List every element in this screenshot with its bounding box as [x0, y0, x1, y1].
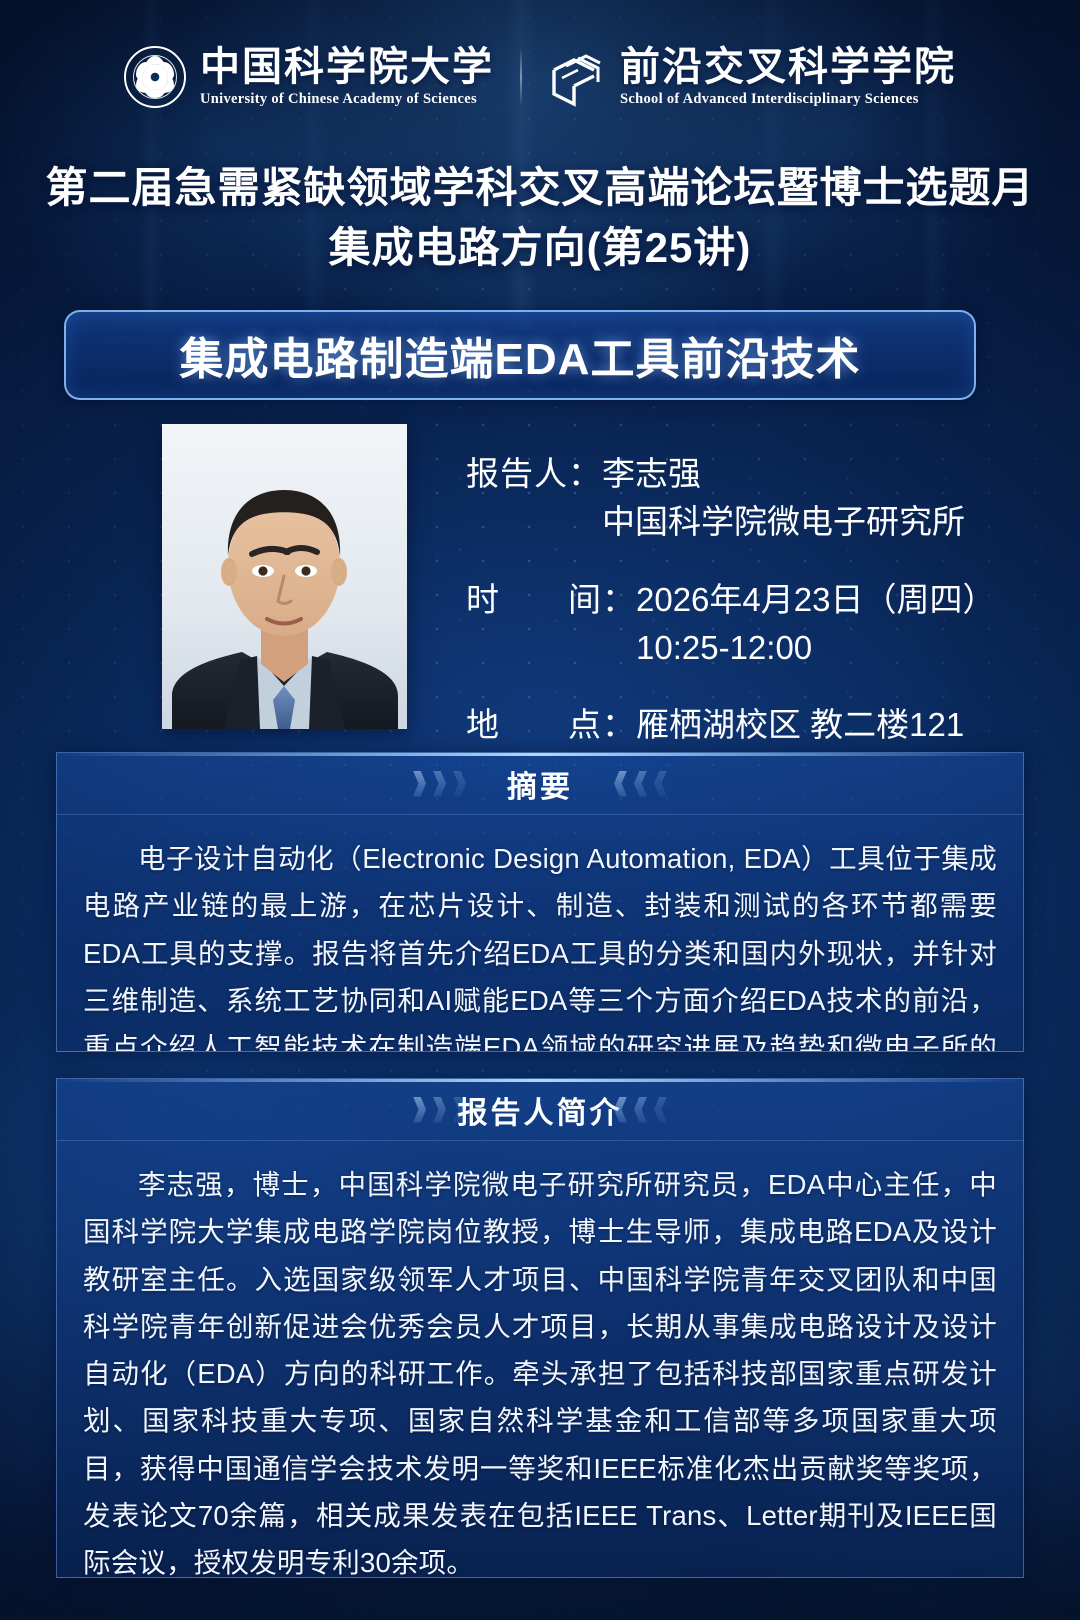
forum-title-line1: 第二届急需紧缺领域学科交叉高端论坛暨博士选题月 — [45, 164, 1034, 211]
chevron-left-icon — [614, 771, 627, 797]
presenter-label: 报告人： — [466, 450, 602, 498]
event-venue: 雁栖湖校区 教二楼121 — [636, 701, 964, 749]
abstract-body: 电子设计自动化（Electronic Design Automation, ED… — [57, 815, 1023, 1052]
place-label: 地 点： — [466, 701, 636, 749]
presenter-values: 李志强 中国科学院微电子研究所 — [602, 450, 965, 546]
bio-panel: 报告人简介 李志强，博士，中国科学院微电子研究所研究员，EDA中心主任，中国科学… — [56, 1078, 1024, 1578]
speaker-section: 报告人： 李志强 中国科学院微电子研究所 时 间： 2026年4月23日（周四）… — [0, 424, 1080, 734]
abstract-chevrons-right — [614, 771, 667, 797]
chevron-right-icon — [433, 771, 446, 797]
topic-title: 集成电路制造端EDA工具前沿技术 — [180, 323, 861, 387]
sais-name-en: School of Advanced Interdisciplinary Sci… — [620, 91, 956, 108]
abstract-heading: 摘要 — [507, 762, 573, 806]
abstract-text: 电子设计自动化（Electronic Design Automation, ED… — [83, 835, 997, 1052]
speaker-name: 李志强 — [602, 455, 701, 492]
poster-root: 中国科学院大学 University of Chinese Academy of… — [0, 0, 1080, 1620]
ucas-seal-icon — [124, 46, 186, 108]
bio-text: 李志强，博士，中国科学院微电子研究所研究员，EDA中心主任，中国科学院大学集成电… — [83, 1161, 997, 1578]
time-values: 2026年4月23日（周四） 10:25-12:00 — [636, 576, 995, 672]
sais-cube-icon — [548, 46, 606, 108]
forum-title: 第二届急需紧缺领域学科交叉高端论坛暨博士选题月 集成电路方向(第25讲) — [0, 158, 1080, 277]
topic-box: 集成电路制造端EDA工具前沿技术 — [64, 310, 976, 400]
chevron-left-icon — [634, 771, 647, 797]
chevron-right-icon — [453, 771, 466, 797]
event-time-range: 10:25-12:00 — [636, 624, 995, 672]
bio-body: 李志强，博士，中国科学院微电子研究所研究员，EDA中心主任，中国科学院大学集成电… — [57, 1141, 1023, 1578]
logo-divider — [520, 47, 522, 107]
abstract-header: 摘要 — [57, 753, 1023, 815]
chevron-right-icon — [433, 1097, 446, 1123]
chevron-right-icon — [413, 1097, 426, 1123]
ucas-name-en: University of Chinese Academy of Science… — [200, 91, 494, 108]
meta-spacer-2 — [466, 675, 1006, 701]
speaker-affiliation: 中国科学院微电子研究所 — [602, 498, 965, 546]
sais-logo: 前沿交叉科学学院 School of Advanced Interdiscipl… — [548, 46, 956, 108]
event-date: 2026年4月23日（周四） — [636, 581, 995, 618]
bio-chevrons-left — [413, 1097, 466, 1123]
speaker-portrait — [162, 424, 407, 729]
ucas-name-cn: 中国科学院大学 — [200, 46, 494, 88]
chevron-left-icon — [654, 1097, 667, 1123]
bio-chevrons-right — [614, 1097, 667, 1123]
speaker-meta: 报告人： 李志强 中国科学院微电子研究所 时 间： 2026年4月23日（周四）… — [466, 450, 1006, 753]
bio-header: 报告人简介 — [57, 1079, 1023, 1141]
chevron-right-icon — [453, 1097, 466, 1123]
presenter-row: 报告人： 李志强 中国科学院微电子研究所 — [466, 450, 1006, 546]
bio-heading: 报告人简介 — [458, 1088, 623, 1132]
chevron-left-icon — [614, 1097, 627, 1123]
forum-title-line2: 集成电路方向(第25讲) — [0, 218, 1080, 278]
chevron-left-icon — [654, 771, 667, 797]
time-label: 时 间： — [466, 576, 636, 624]
time-row: 时 间： 2026年4月23日（周四） 10:25-12:00 — [466, 576, 1006, 672]
abstract-chevrons-left — [413, 771, 466, 797]
logo-bar: 中国科学院大学 University of Chinese Academy of… — [0, 34, 1080, 120]
meta-spacer-1 — [466, 550, 1006, 576]
chevron-left-icon — [634, 1097, 647, 1123]
chevron-right-icon — [413, 771, 426, 797]
ucas-logo: 中国科学院大学 University of Chinese Academy of… — [124, 46, 494, 108]
sais-name-cn: 前沿交叉科学学院 — [620, 46, 956, 88]
place-row: 地 点： 雁栖湖校区 教二楼121 — [466, 701, 1006, 749]
abstract-panel: 摘要 电子设计自动化（Electronic Design Automation,… — [56, 752, 1024, 1052]
